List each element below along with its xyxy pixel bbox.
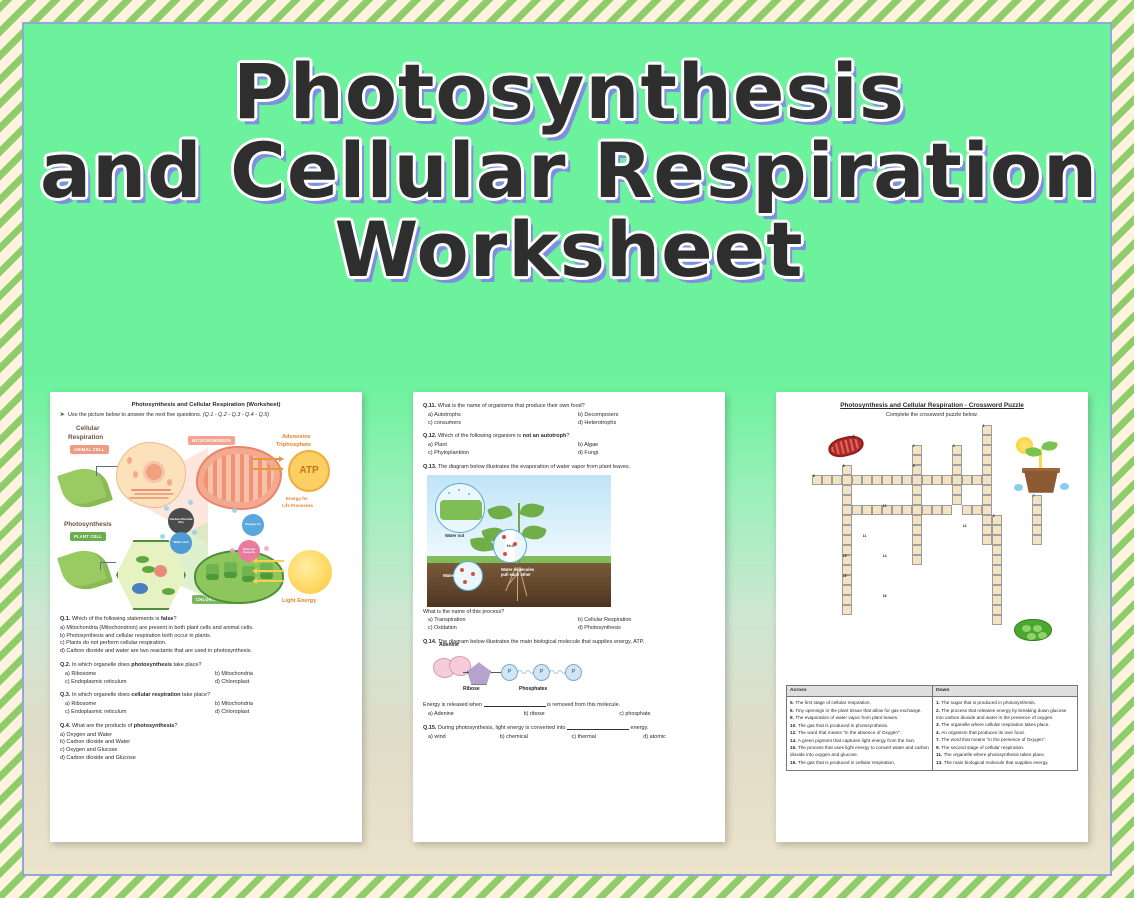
q15-answer-blank[interactable] — [567, 729, 629, 730]
crossword-cell[interactable] — [942, 475, 952, 485]
q3-text-bold: cellular respiration — [131, 692, 180, 698]
crossword-cell[interactable] — [982, 475, 992, 485]
crossword-cell[interactable] — [842, 535, 852, 545]
crossword-cell[interactable] — [992, 555, 1002, 565]
crossword-cell[interactable] — [982, 485, 992, 495]
label-h2o: H₂O — [507, 543, 515, 549]
q11-options: a) Autotrophsb) Decomposers c) consumers… — [423, 412, 715, 428]
crossword-cell[interactable] — [892, 475, 902, 485]
worksheet-page-2[interactable]: Q.11. What is the name of organisms that… — [413, 392, 725, 842]
clue-text: The evaporation of water vapor from plan… — [795, 715, 898, 720]
clue-item: 4. An organism that produces its own foo… — [936, 729, 1074, 736]
clue-item: 15. The process that uses light energy t… — [790, 744, 929, 758]
clue-text: The second stage of cellular respiration… — [941, 745, 1024, 750]
q2-option-d[interactable]: d) Chloroplast — [215, 679, 249, 687]
crossword-cell[interactable] — [992, 575, 1002, 585]
diagram-label-cellular: Cellular — [76, 424, 99, 433]
crossword-cell[interactable] — [842, 515, 852, 525]
chloroplast-illustration — [194, 550, 284, 604]
q13-option-a[interactable]: a) Transpiration — [428, 617, 578, 625]
crossword-cell[interactable] — [992, 525, 1002, 535]
clue-number: 15. — [790, 745, 798, 750]
crossword-cell[interactable] — [842, 525, 852, 535]
crossword-cell[interactable] — [852, 505, 862, 515]
clue-text: The sugar that is produced in photosynth… — [941, 700, 1036, 705]
q2-text-bold: photosynthesis — [131, 662, 172, 668]
clue-item: 16. The gas that is produced in cellular… — [790, 759, 929, 766]
crossword-cell[interactable] — [992, 585, 1002, 595]
tag-mitochondrion: MITOCHONDRION — [188, 436, 235, 445]
mitochondrion-icon — [826, 433, 866, 460]
sheet1-title: Photosynthesis and Cellular Respiration … — [60, 401, 352, 409]
crossword-cell[interactable] — [912, 535, 922, 545]
crossword-cell[interactable] — [842, 545, 852, 555]
clue-item: 6. Tiny openings in the plant tissue tha… — [790, 707, 929, 714]
atp-heading-2: Triphosphate — [276, 442, 311, 450]
crossword-cell[interactable] — [872, 475, 882, 485]
diagram-label-photosynthesis: Photosynthesis — [64, 520, 112, 529]
bubble-oxygen: Oxygen O₂ — [242, 514, 264, 536]
animal-cell-illustration — [116, 442, 186, 508]
clue-text: The process that releases energy by brea… — [936, 708, 1066, 720]
crossword-cell[interactable] — [982, 535, 992, 545]
q12-options: a) Plantb) Algae c) Phytoplanktond) Fung… — [423, 442, 715, 458]
arrow-light-2 — [256, 570, 284, 572]
crossword-cell[interactable] — [922, 475, 932, 485]
q1-option-b[interactable]: b) Photosynthesis and cellular respirati… — [60, 633, 352, 641]
thylakoid-stack-2 — [224, 562, 237, 578]
crossword-cell[interactable] — [842, 505, 852, 515]
arrow-to-atp-2 — [252, 468, 280, 470]
clue-item: 8. The evaporation of water vapor from p… — [790, 714, 929, 721]
q1-number: Q.1. — [60, 616, 70, 622]
q13-option-c[interactable]: c) Oxidation — [428, 625, 578, 633]
magnifier-leaf-surface — [435, 483, 485, 533]
crossword-cell[interactable] — [912, 555, 922, 565]
crossword-cell[interactable] — [912, 505, 922, 515]
crossword-cell[interactable] — [952, 485, 962, 495]
bubble-carbon-dioxide: Carbon Dioxide CO₂ — [168, 508, 194, 534]
q12-text-post: ? — [566, 433, 569, 439]
crossword-cell[interactable] — [912, 485, 922, 495]
crossword-cell[interactable] — [972, 475, 982, 485]
poster-canvas: Photosynthesis and Cellular Respiration … — [22, 22, 1112, 876]
q4-option-c[interactable]: c) Oxygen and Glucose — [60, 747, 352, 755]
crossword-cell[interactable] — [1032, 505, 1042, 515]
crossword-cell[interactable] — [972, 505, 982, 515]
crossword-clues: Across 5. The first stage of cellular re… — [786, 685, 1078, 771]
vapor-dot-3 — [468, 493, 470, 495]
xylem-water-3 — [503, 552, 507, 556]
q2-options: a) Ribosomeb) Mitochondria c) Endoplasmi… — [60, 671, 352, 687]
sheet1-instruction: ➤ Use the picture below to answer the ne… — [60, 412, 352, 420]
crossword-cell[interactable] — [842, 565, 852, 575]
vapor-dot-1 — [448, 492, 450, 494]
clue-item: 13. The main biological molecule that su… — [936, 759, 1074, 766]
crossword-cell[interactable] — [822, 475, 832, 485]
crossword-cell-number: 6 — [813, 475, 815, 478]
clue-text: The word that means "in the presence of … — [941, 737, 1046, 742]
q3-option-c[interactable]: c) Endoplasmic reticulum — [65, 709, 215, 717]
crossword-cell-number: 16 — [883, 595, 887, 598]
page-title: Photosynthesis and Cellular Respiration … — [24, 52, 1112, 289]
clue-text: The organelle where photosynthesis takes… — [944, 752, 1046, 757]
crossword-cell[interactable] — [962, 505, 972, 515]
crossword-down-column: Down 1. The sugar that is produced in ph… — [932, 686, 1077, 770]
plant-chloroplast-3 — [162, 588, 175, 595]
q1-option-d[interactable]: d) Carbon dioxide and water are two reac… — [60, 648, 352, 656]
crossword-cell-number: 15 — [843, 575, 847, 578]
crossword-cell[interactable] — [962, 475, 972, 485]
crossword-subtitle: Complete the crossword puzzle below. — [786, 412, 1078, 420]
q11-option-c[interactable]: c) consumers — [428, 420, 578, 428]
question-q11: Q.11. What is the name of organisms that… — [423, 403, 715, 427]
atp-sub-1: Energy for — [286, 496, 308, 502]
q13-option-d[interactable]: d) Photosynthesis — [578, 625, 621, 633]
crossword-cell-number: 11 — [863, 535, 867, 538]
diagram-label-respiration: Respiration — [68, 433, 103, 442]
q1-option-a[interactable]: a) Mitochondria (Mitochondrion) are pres… — [60, 625, 352, 633]
crossword-cell[interactable] — [912, 515, 922, 525]
connector-plant — [100, 562, 116, 570]
q15-option-a[interactable]: a) wind — [428, 734, 500, 742]
q3-option-d[interactable]: d) Chloroplast — [215, 709, 249, 717]
crossword-cell[interactable] — [982, 515, 992, 525]
plant-leaf-1 — [487, 501, 513, 523]
q2-option-a[interactable]: a) Ribosome — [65, 671, 215, 679]
crossword-cell[interactable] — [992, 535, 1002, 545]
squiggle-bond-2 — [550, 669, 565, 675]
adenine-ring-2 — [449, 656, 471, 676]
plant-chloroplast-1 — [136, 556, 149, 563]
crossword-cell[interactable] — [992, 565, 1002, 575]
phosphate-1: P — [501, 664, 518, 681]
crossword-cell[interactable] — [842, 485, 852, 495]
leaf-plant-side — [57, 544, 113, 596]
clue-item: 7. The word that means "in the presence … — [936, 736, 1074, 743]
molecule-dot-5 — [232, 508, 237, 513]
q4-text-post: ? — [174, 723, 177, 729]
crossword-cell[interactable] — [832, 475, 842, 485]
crossword-cell[interactable] — [1032, 515, 1042, 525]
label-pull-line2: pull each other — [501, 572, 531, 577]
plant-vacuole — [132, 583, 148, 594]
photosynthesis-respiration-diagram: Cellular Respiration ANIMAL CELL Photosy… — [60, 422, 352, 610]
crossword-cell-number: 10 — [883, 505, 887, 508]
title-line-1: Photosynthesis — [24, 52, 1112, 131]
molecule-dot-6 — [264, 546, 269, 551]
crossword-cell[interactable] — [982, 495, 992, 505]
label-water-in: Water in — [443, 573, 459, 579]
bullet-arrow-icon: ➤ — [60, 412, 65, 418]
q12-number: Q.12. — [423, 433, 436, 439]
crossword-cell[interactable] — [1032, 525, 1042, 535]
water-drop-right — [1060, 483, 1069, 490]
crossword-cell[interactable] — [882, 475, 892, 485]
q13-text: The diagram below illustrates the evapor… — [438, 464, 630, 470]
q13-sub-question: What is the name of this process? — [423, 609, 715, 617]
atp-heading-1: Adenosine — [282, 434, 311, 442]
crossword-cell[interactable] — [982, 455, 992, 465]
crossword-cell[interactable] — [922, 505, 932, 515]
clue-text: An organism that produces its own food. — [941, 730, 1025, 735]
q14-option-c[interactable]: c) phosphate — [619, 711, 715, 719]
worksheet-page-3-crossword[interactable]: Photosynthesis and Cellular Respiration … — [776, 392, 1088, 842]
clue-number: 10. — [790, 723, 798, 728]
crossword-cell-number: 12 — [963, 525, 967, 528]
crossword-cell[interactable] — [982, 525, 992, 535]
q11-option-d[interactable]: d) Heterotrophs — [578, 420, 616, 428]
clue-text: The word that means "in the absence of O… — [798, 730, 901, 735]
atp-sub-2: Life Processes — [282, 503, 313, 509]
root-water-1 — [460, 568, 464, 572]
q15-option-d[interactable]: d) atomic — [643, 734, 715, 742]
crossword-cell[interactable] — [992, 595, 1002, 605]
crossword-cell[interactable] — [842, 605, 852, 615]
crossword-cell[interactable] — [1032, 535, 1042, 545]
plant-leaf-2 — [519, 500, 545, 521]
label-pull-line1: Water molecules — [501, 567, 534, 572]
magnifier-xylem: H₂O — [493, 529, 527, 563]
xylem-water-1 — [502, 535, 506, 539]
crossword-cell[interactable] — [852, 475, 862, 485]
clue-text: Tiny openings in the plant tissue that a… — [795, 708, 921, 713]
animal-organelle-3 — [133, 471, 138, 478]
q15-fill-pre: During photosynthesis, light energy is c… — [438, 725, 566, 731]
q2-option-c[interactable]: c) Endoplasmic reticulum — [65, 679, 215, 687]
crossword-cell[interactable] — [862, 505, 872, 515]
squiggle-bond-1 — [518, 669, 533, 675]
down-clue-list: 1. The sugar that is produced in photosy… — [933, 697, 1077, 769]
bond-adenine-ribose — [463, 672, 469, 673]
crossword-grid[interactable]: 12345678910111213141516 — [786, 423, 1078, 683]
atp-molecule-diagram: Adenine P P P Ribose Phosphates — [431, 648, 611, 694]
q15-number: Q.15. — [423, 725, 436, 731]
tag-animal-cell: ANIMAL CELL — [70, 445, 109, 454]
crossword-title: Photosynthesis and Cellular Respiration … — [786, 401, 1078, 410]
crossword-cell[interactable] — [892, 505, 902, 515]
crossword-cell[interactable] — [912, 455, 922, 465]
crossword-cell[interactable] — [982, 445, 992, 455]
clue-text: A green pigment that captures light ener… — [798, 738, 916, 743]
q14-option-b[interactable]: b) ribose — [524, 711, 620, 719]
q4-option-a[interactable]: a) Oxygen and Water — [60, 732, 352, 740]
crossword-cell-number: 7 — [1033, 495, 1035, 498]
q3-option-a[interactable]: a) Ribosome — [65, 701, 215, 709]
crossword-cell[interactable] — [982, 465, 992, 475]
clue-text: The organelle where cellular respiration… — [941, 722, 1049, 727]
crossword-cell-number: 13 — [843, 555, 847, 558]
flower-pot — [1024, 471, 1058, 493]
q2-text-pre: In which organelle does — [72, 662, 131, 668]
q4-option-b[interactable]: b) Carbon dioxide and Water — [60, 739, 352, 747]
potted-plant-icon — [1012, 437, 1072, 493]
question-q2: Q.2. In which organelle does photosynthe… — [60, 662, 352, 686]
crossword-cell[interactable] — [982, 435, 992, 445]
q1-option-c[interactable]: c) Plants do not perform cellular respir… — [60, 640, 352, 648]
clue-item: 1. The sugar that is produced in photosy… — [936, 699, 1074, 706]
sun-illustration — [288, 550, 332, 594]
label-phosphates: Phosphates — [519, 686, 547, 693]
question-q14: Q.14. The diagram below illustrates the … — [423, 639, 715, 647]
crossword-cell-number: 14 — [883, 555, 887, 558]
clue-text: The gas that is produced in cellular res… — [798, 760, 895, 765]
q14-fill-pre: Energy is released when — [423, 702, 482, 708]
crossword-cell[interactable] — [912, 475, 922, 485]
crossword-cell[interactable] — [952, 475, 962, 485]
crossword-cell[interactable] — [952, 465, 962, 475]
title-line-3: Worksheet — [24, 210, 1112, 289]
crossword-cell[interactable] — [902, 475, 912, 485]
atp-molecule: ATP — [288, 450, 330, 492]
crossword-cell[interactable] — [912, 545, 922, 555]
q13-options: a) Transpirationb) Cellular Respiration … — [423, 617, 715, 632]
across-heading: Across — [787, 686, 932, 697]
mitochondrion-illustration — [196, 446, 282, 510]
molecule-dot-3 — [160, 534, 165, 539]
question-q12: Q.12. Which of the following organism is… — [423, 433, 715, 457]
question-q13: Q.13. The diagram below illustrates the … — [423, 464, 715, 472]
crossword-cell[interactable] — [842, 475, 852, 485]
clue-text: The main biological molecule that suppli… — [944, 760, 1049, 765]
crossword-cell[interactable] — [992, 615, 1002, 625]
animal-organelle-1 — [127, 457, 132, 464]
crossword-cell[interactable] — [952, 455, 962, 465]
crossword-cell[interactable] — [842, 495, 852, 505]
q15-fill-post: energy. — [631, 725, 649, 731]
q15-options: a) wind b) chemical c) thermal d) atomic — [423, 734, 715, 742]
q1-text-post: ? — [173, 616, 176, 622]
worksheet-page-1[interactable]: Photosynthesis and Cellular Respiration … — [50, 392, 362, 842]
mitochondrion-cristae — [204, 454, 274, 502]
q2-option-b[interactable]: b) Mitochondria — [215, 671, 253, 679]
water-drop-left — [1014, 484, 1023, 491]
crossword-cell-number: 5 — [913, 465, 915, 468]
q11-option-b[interactable]: b) Decomposers — [578, 412, 618, 420]
title-line-2: and Cellular Respiration — [24, 131, 1112, 210]
q12-option-c[interactable]: c) Phytoplankton — [428, 450, 578, 458]
root-water-2 — [471, 572, 475, 576]
q4-option-d[interactable]: d) Carbon dioxide and Glucose — [60, 755, 352, 763]
question-q4: Q.4. What are the products of photosynth… — [60, 723, 352, 763]
q14-option-a[interactable]: a) Adenine — [428, 711, 524, 719]
clue-text: The gas that is produced in photosynthes… — [798, 723, 888, 728]
crossword-across-column: Across 5. The first stage of cellular re… — [787, 686, 932, 770]
q1-options: a) Mitochondria (Mitochondrion) are pres… — [60, 625, 352, 656]
clue-number: 16. — [790, 760, 798, 765]
phosphate-3: P — [565, 664, 582, 681]
question-q15: Q.15. During photosynthesis, light energ… — [423, 725, 715, 742]
q15-option-b[interactable]: b) chemical — [500, 734, 572, 742]
clue-number: 11. — [936, 752, 944, 757]
q12-text-pre: Which of the following organism is — [438, 433, 523, 439]
q4-text-bold: photosynthesis — [134, 723, 175, 729]
vapor-dot-2 — [458, 489, 460, 491]
crossword-cell[interactable] — [912, 495, 922, 505]
clue-item: 10. The gas that is produced in photosyn… — [790, 722, 929, 729]
crossword-cell[interactable] — [942, 505, 952, 515]
q15-option-c[interactable]: c) thermal — [572, 734, 644, 742]
q4-options: a) Oxygen and Water b) Carbon dioxide an… — [60, 732, 352, 763]
crossword-cell[interactable] — [912, 525, 922, 535]
q4-number: Q.4. — [60, 723, 70, 729]
crossword-cell[interactable] — [932, 475, 942, 485]
sheet1-instruction-range: (Q.1 - Q.2 - Q.3 - Q.4 - Q.5) — [203, 412, 269, 418]
q11-number: Q.11. — [423, 403, 436, 409]
q3-option-b[interactable]: b) Mitochondria — [215, 701, 253, 709]
q12-option-a[interactable]: a) Plant — [428, 442, 578, 450]
q14-number: Q.14. — [423, 639, 436, 645]
clue-text: The process that uses light energy to co… — [790, 745, 929, 757]
root-water-3 — [463, 580, 467, 584]
clue-text: The first stage of cellular respiration. — [795, 700, 871, 705]
crossword-cell[interactable] — [992, 545, 1002, 555]
thylakoid-stack-1 — [206, 564, 219, 580]
clue-item: 12. The word that means "in the absence … — [790, 729, 929, 736]
poster-root: Photosynthesis and Cellular Respiration … — [0, 0, 1134, 898]
q13-number: Q.13. — [423, 464, 436, 470]
label-adenine: Adenine — [439, 642, 459, 649]
clue-item: 2. The process that releases energy by b… — [936, 707, 1074, 721]
animal-organelle-2 — [167, 479, 172, 486]
crossword-cell-number: 9 — [993, 515, 995, 518]
q12-option-d[interactable]: d) Fungi — [578, 450, 598, 458]
leaf-surface — [440, 500, 482, 520]
crossword-cell[interactable] — [952, 495, 962, 505]
q12-option-b[interactable]: b) Algae — [578, 442, 598, 450]
transpiration-diagram: Water out H₂O Water molecules pull each … — [427, 475, 611, 607]
light-energy-label: Light Energy — [282, 598, 316, 606]
down-heading: Down — [933, 686, 1077, 697]
q1-text-pre: Which of the following statements is — [72, 616, 161, 622]
crossword-cell[interactable] — [842, 595, 852, 605]
clue-item: 5. The first stage of cellular respirati… — [790, 699, 929, 706]
q2-text-post: take place? — [172, 662, 202, 668]
q11-option-a[interactable]: a) Autotrophs — [428, 412, 578, 420]
clue-number: 12. — [790, 730, 798, 735]
question-q1: Q.1. Which of the following statements i… — [60, 616, 352, 656]
animal-er — [131, 489, 171, 491]
q14-fill-post: is removed from this molecule. — [547, 702, 620, 708]
crossword-cell[interactable] — [842, 585, 852, 595]
q13-option-b[interactable]: b) Cellular Respiration — [578, 617, 631, 625]
crossword-cell-number: 4 — [853, 435, 855, 438]
question-q3: Q.3. In which organelle does cellular re… — [60, 692, 352, 716]
crossword-cell[interactable] — [902, 505, 912, 515]
q14-text: The diagram below illustrates the main b… — [438, 639, 644, 645]
connector-animal — [96, 466, 118, 476]
clue-number: 14. — [790, 738, 798, 743]
crossword-cell[interactable] — [932, 505, 942, 515]
sheet1-instruction-text: Use the picture below to answer the next… — [68, 412, 201, 418]
clue-item: 14. A green pigment that captures light … — [790, 737, 929, 744]
arrow-light-1 — [256, 560, 284, 562]
clue-item: 3. The organelle where cellular respirat… — [936, 721, 1074, 728]
q14-options: a) Adenine b) ribose c) phosphate — [423, 711, 715, 719]
q14-answer-blank[interactable] — [484, 706, 546, 707]
arrow-light-3 — [256, 580, 284, 582]
q14-fill-in: Energy is released when is removed from … — [423, 702, 715, 710]
chloroplast-icon — [1014, 619, 1052, 641]
q3-text-pre: In which organelle does — [72, 692, 131, 698]
q3-number: Q.3. — [60, 692, 70, 698]
plant-nucleus — [154, 565, 167, 577]
q12-text-bold: not an autotroph — [523, 433, 567, 439]
crossword-cell[interactable] — [872, 505, 882, 515]
crossword-cell[interactable] — [982, 505, 992, 515]
crossword-cell[interactable] — [992, 605, 1002, 615]
crossword-cell[interactable] — [862, 475, 872, 485]
